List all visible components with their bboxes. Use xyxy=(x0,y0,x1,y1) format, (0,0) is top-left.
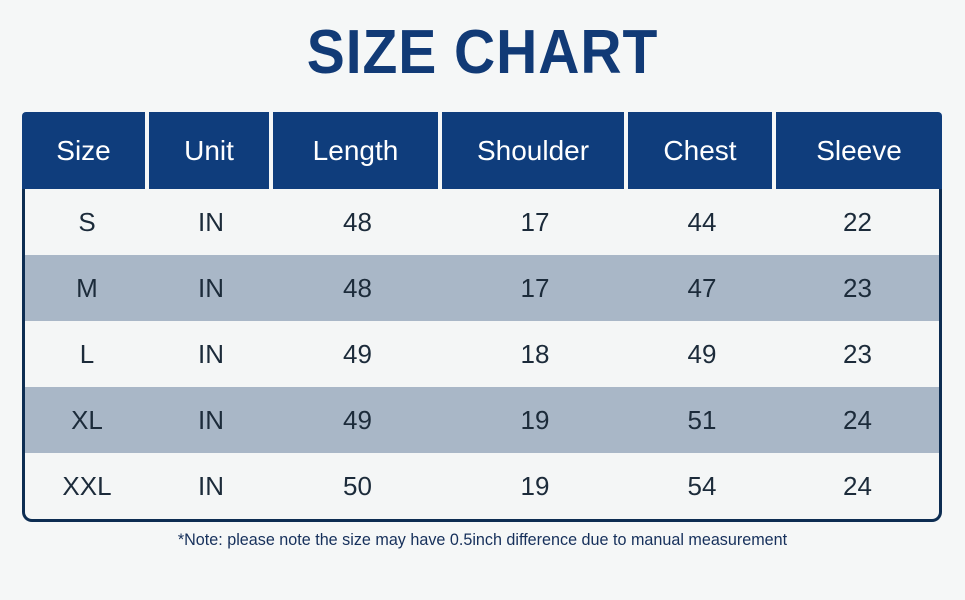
header-row: Size Unit Length Shoulder Chest Sleeve xyxy=(22,112,942,189)
cell-size: M xyxy=(22,255,149,321)
table-body: S IN 48 17 44 22 M IN 48 17 47 23 L xyxy=(22,189,942,522)
cell-size: XL xyxy=(22,387,149,453)
cell-chest: 47 xyxy=(628,255,776,321)
size-table-container: Size Unit Length Shoulder Chest Sleeve S… xyxy=(22,112,942,522)
column-header-unit: Unit xyxy=(149,112,273,189)
table-row: XXL IN 50 19 54 24 xyxy=(22,453,942,522)
cell-size: S xyxy=(22,189,149,255)
cell-shoulder: 18 xyxy=(442,321,628,387)
cell-length: 49 xyxy=(273,387,442,453)
cell-unit: IN xyxy=(149,189,273,255)
column-header-size: Size xyxy=(22,112,149,189)
cell-chest: 44 xyxy=(628,189,776,255)
size-chart-page: SIZE CHART Size Unit Length Shoulder Che… xyxy=(0,0,965,600)
column-header-shoulder: Shoulder xyxy=(442,112,628,189)
cell-unit: IN xyxy=(149,321,273,387)
cell-unit: IN xyxy=(149,255,273,321)
cell-size: XXL xyxy=(22,453,149,522)
size-table: Size Unit Length Shoulder Chest Sleeve S… xyxy=(22,112,942,522)
table-row: S IN 48 17 44 22 xyxy=(22,189,942,255)
cell-unit: IN xyxy=(149,387,273,453)
cell-sleeve: 24 xyxy=(776,453,942,522)
page-title: SIZE CHART xyxy=(39,16,927,90)
cell-shoulder: 17 xyxy=(442,255,628,321)
cell-length: 48 xyxy=(273,189,442,255)
cell-chest: 54 xyxy=(628,453,776,522)
column-header-sleeve: Sleeve xyxy=(776,112,942,189)
cell-shoulder: 19 xyxy=(442,453,628,522)
cell-length: 50 xyxy=(273,453,442,522)
measurement-note: *Note: please note the size may have 0.5… xyxy=(24,530,941,550)
table-row: M IN 48 17 47 23 xyxy=(22,255,942,321)
cell-chest: 51 xyxy=(628,387,776,453)
column-header-length: Length xyxy=(273,112,442,189)
table-row: L IN 49 18 49 23 xyxy=(22,321,942,387)
cell-shoulder: 17 xyxy=(442,189,628,255)
cell-sleeve: 23 xyxy=(776,321,942,387)
column-header-chest: Chest xyxy=(628,112,776,189)
cell-shoulder: 19 xyxy=(442,387,628,453)
cell-length: 49 xyxy=(273,321,442,387)
cell-chest: 49 xyxy=(628,321,776,387)
cell-length: 48 xyxy=(273,255,442,321)
table-row: XL IN 49 19 51 24 xyxy=(22,387,942,453)
cell-sleeve: 24 xyxy=(776,387,942,453)
cell-sleeve: 22 xyxy=(776,189,942,255)
cell-unit: IN xyxy=(149,453,273,522)
cell-size: L xyxy=(22,321,149,387)
table-header: Size Unit Length Shoulder Chest Sleeve xyxy=(22,112,942,189)
cell-sleeve: 23 xyxy=(776,255,942,321)
